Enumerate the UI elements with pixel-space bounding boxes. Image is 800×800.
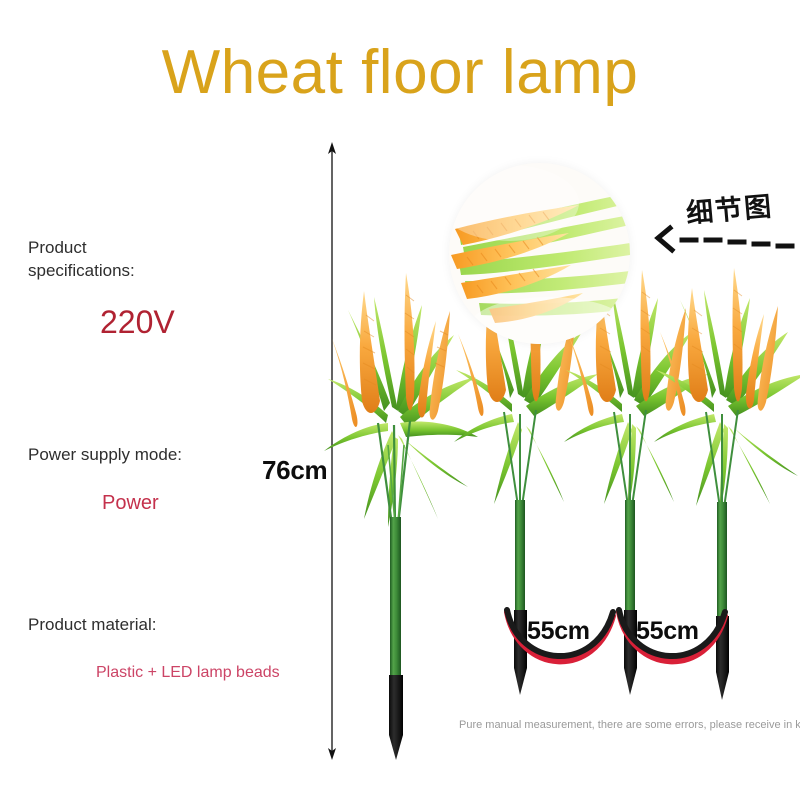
- wheat-ear-group: [332, 273, 450, 427]
- spacing-dimension-label-right: 55cm: [636, 617, 699, 646]
- spec-label-line2: specifications:: [28, 261, 135, 280]
- measurement-disclaimer: Pure manual measurement, there are some …: [459, 719, 800, 731]
- detail-callout: 细节图: [648, 190, 798, 260]
- spec-label-line1: Product: [28, 238, 87, 257]
- spec-value-power-mode: Power: [102, 492, 278, 515]
- spacing-dimension-label-left: 55cm: [527, 617, 590, 646]
- detail-callout-label: 细节图: [684, 184, 774, 230]
- spec-value-voltage: 220V: [100, 304, 278, 341]
- lamp-pole: [515, 500, 525, 616]
- spec-label: Power supply mode:: [28, 443, 278, 466]
- spec-block-material: Product material: Plastic + LED lamp bea…: [28, 613, 318, 682]
- detail-magnifier-circle: [449, 163, 630, 344]
- spec-block-specifications: Product specifications: 220V: [28, 236, 278, 341]
- spec-label: Product specifications:: [28, 236, 278, 282]
- lamp-pole: [625, 500, 635, 616]
- lamp-pole: [390, 517, 401, 681]
- product-image-canvas: Wheat floor lamp Product specifications:…: [0, 0, 800, 800]
- spec-value-material: Plastic + LED lamp beads: [96, 664, 318, 682]
- page-title: Wheat floor lamp: [0, 36, 800, 110]
- ground-stake: [389, 675, 403, 760]
- spec-label: Product material:: [28, 613, 318, 636]
- leaf-group: [654, 290, 800, 512]
- spec-block-power-supply: Power supply mode: Power: [28, 443, 278, 515]
- wheat-ear-group: [660, 268, 778, 416]
